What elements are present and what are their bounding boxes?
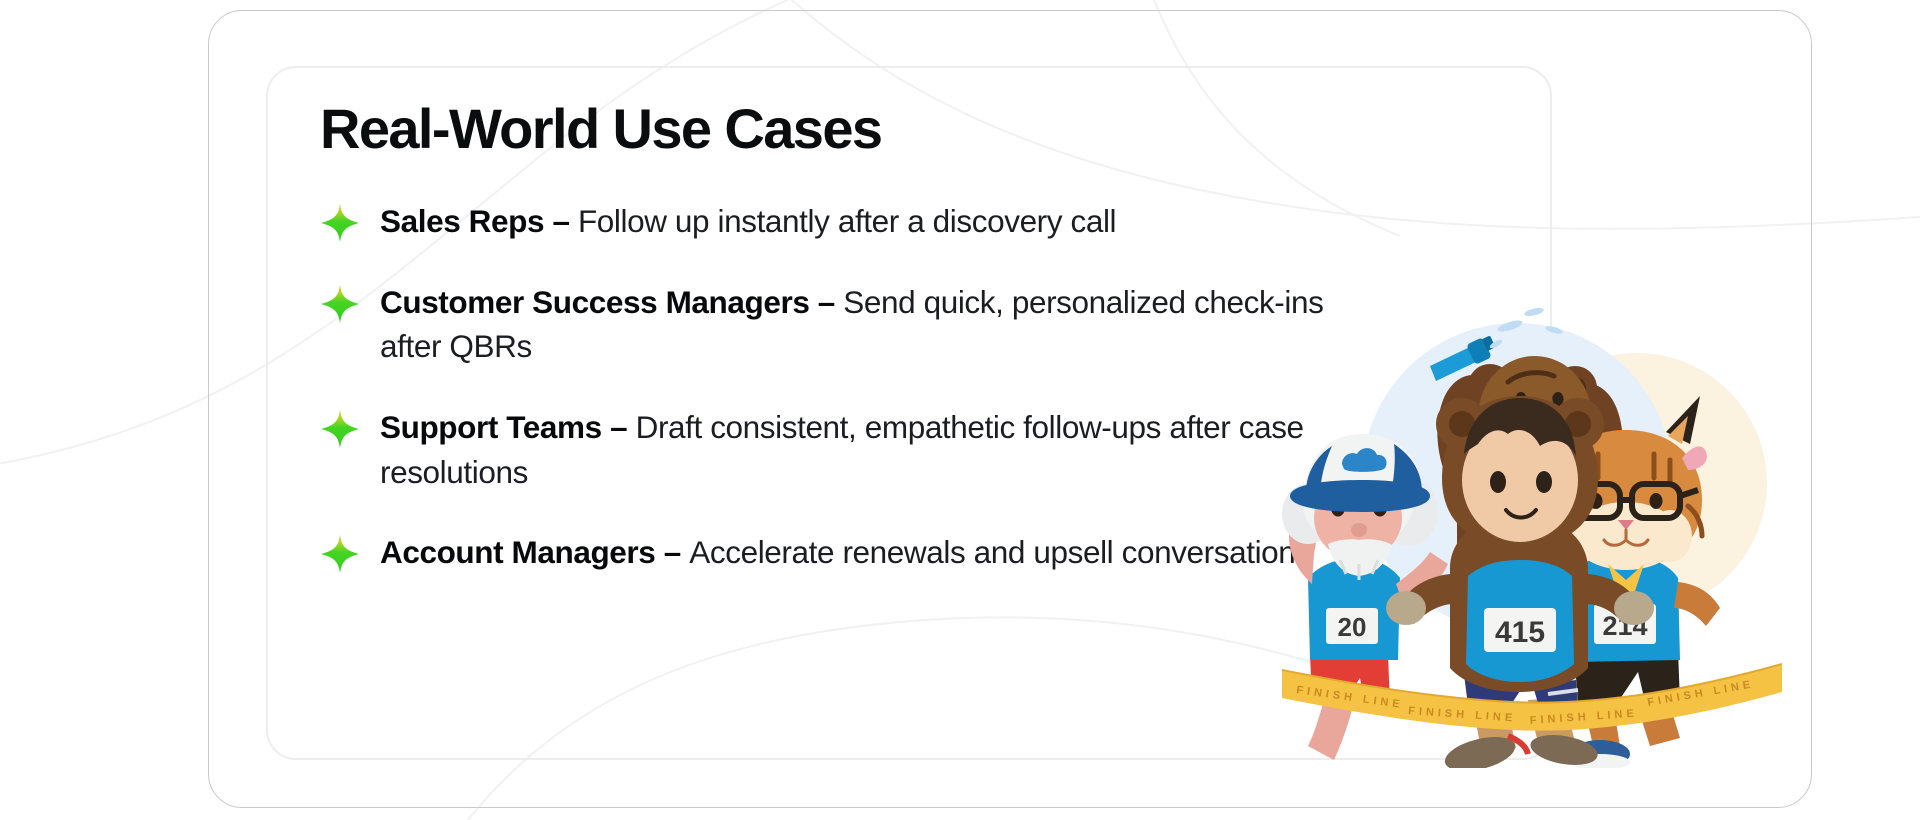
- list-item: Customer Success Managers – Send quick, …: [320, 280, 1380, 369]
- sparkle-icon: [320, 203, 360, 243]
- list-item-dash: –: [610, 409, 627, 445]
- use-case-list: Sales Reps – Follow up instantly after a…: [320, 199, 1380, 575]
- sparkle-icon: [320, 409, 360, 449]
- page-title: Real-World Use Cases: [320, 100, 1380, 159]
- list-item-text: Account Managers – Accelerate renewals a…: [380, 530, 1311, 575]
- list-item-role: Support Teams: [380, 409, 602, 445]
- list-item-dash: –: [664, 534, 681, 570]
- list-item: Account Managers – Accelerate renewals a…: [320, 530, 1380, 575]
- list-item-desc: Accelerate renewals and upsell conversat…: [689, 534, 1311, 570]
- list-item-role: Customer Success Managers: [380, 284, 809, 320]
- list-item-role: Account Managers: [380, 534, 655, 570]
- slide-canvas: Real-World Use Cases: [0, 0, 1920, 820]
- list-item-dash: –: [818, 284, 835, 320]
- list-item-text: Support Teams – Draft consistent, empath…: [380, 405, 1340, 494]
- card-content: Real-World Use Cases: [320, 100, 1380, 575]
- list-item: Sales Reps – Follow up instantly after a…: [320, 199, 1380, 244]
- sparkle-icon: [320, 534, 360, 574]
- list-item-text: Customer Success Managers – Send quick, …: [380, 280, 1340, 369]
- list-item-desc: Follow up instantly after a discovery ca…: [578, 203, 1116, 239]
- list-item-dash: –: [552, 203, 569, 239]
- list-item-text: Sales Reps – Follow up instantly after a…: [380, 199, 1116, 244]
- list-item-role: Sales Reps: [380, 203, 544, 239]
- list-item: Support Teams – Draft consistent, empath…: [320, 405, 1380, 494]
- sparkle-icon: [320, 284, 360, 324]
